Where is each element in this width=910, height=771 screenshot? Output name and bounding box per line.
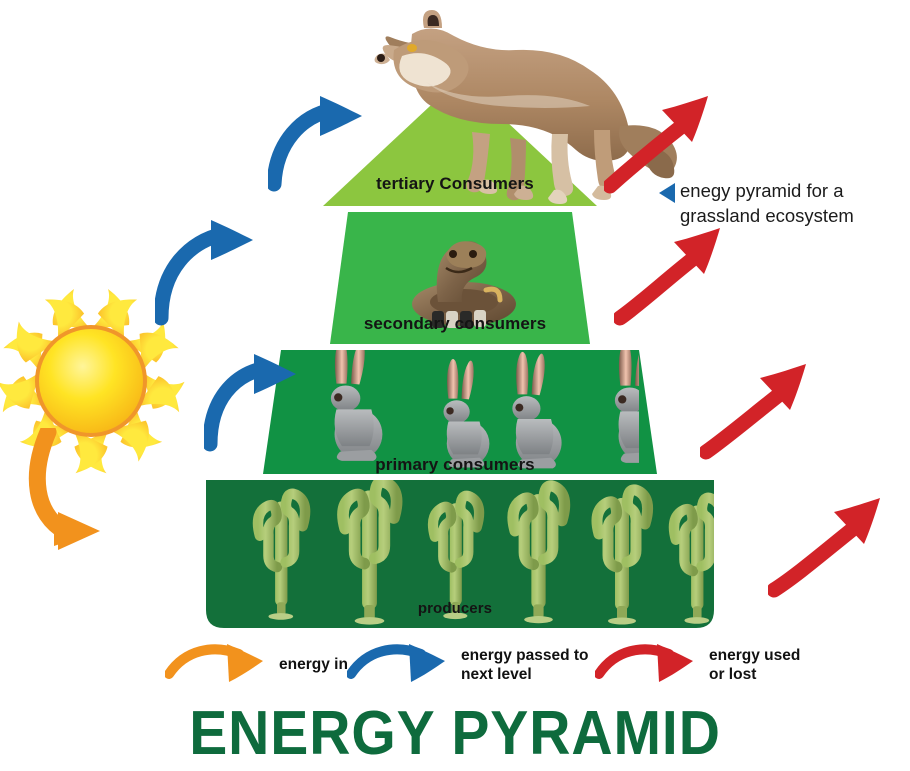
curved-arrow-icon <box>347 644 455 686</box>
legend-label-energy-lost: energy used or lost <box>709 646 800 685</box>
tier-label-primary: primary consumers <box>0 455 910 475</box>
legend-item-energy-lost[interactable]: energy used or lost <box>595 644 800 686</box>
energy-lost-arrow-3 <box>700 356 830 466</box>
legend-label-energy-in: energy in <box>279 655 348 674</box>
diagram-caption: enegy pyramid for a grassland ecosystem <box>680 179 895 228</box>
sun-core <box>39 329 143 433</box>
legend-item-energy-in[interactable]: energy in <box>165 644 348 686</box>
triangle-left-icon <box>657 182 677 204</box>
caption-line-1: enegy pyramid for a <box>680 179 895 204</box>
tier-label-producers: producers <box>0 600 910 617</box>
legend: energy in energy passed to next level <box>165 640 865 696</box>
energy-passed-arrow-1 <box>204 352 324 452</box>
caption-line-2: grassland ecosystem <box>680 204 895 229</box>
energy-in-arrow <box>22 428 212 568</box>
energy-lost-arrow-4 <box>768 492 908 602</box>
energy-pyramid-diagram: tertiary Consumers secondary consumers p… <box>0 0 910 771</box>
energy-lost-arrow-2 <box>614 218 744 328</box>
curved-arrow-icon <box>595 644 703 686</box>
energy-passed-arrow-2 <box>155 218 285 328</box>
legend-label-energy-passed: energy passed to next level <box>461 646 589 685</box>
legend-item-energy-passed[interactable]: energy passed to next level <box>347 644 589 686</box>
curved-arrow-icon <box>165 644 273 686</box>
tier-label-secondary: secondary consumers <box>0 314 910 334</box>
page-title: ENERGY PYRAMID <box>36 698 873 769</box>
